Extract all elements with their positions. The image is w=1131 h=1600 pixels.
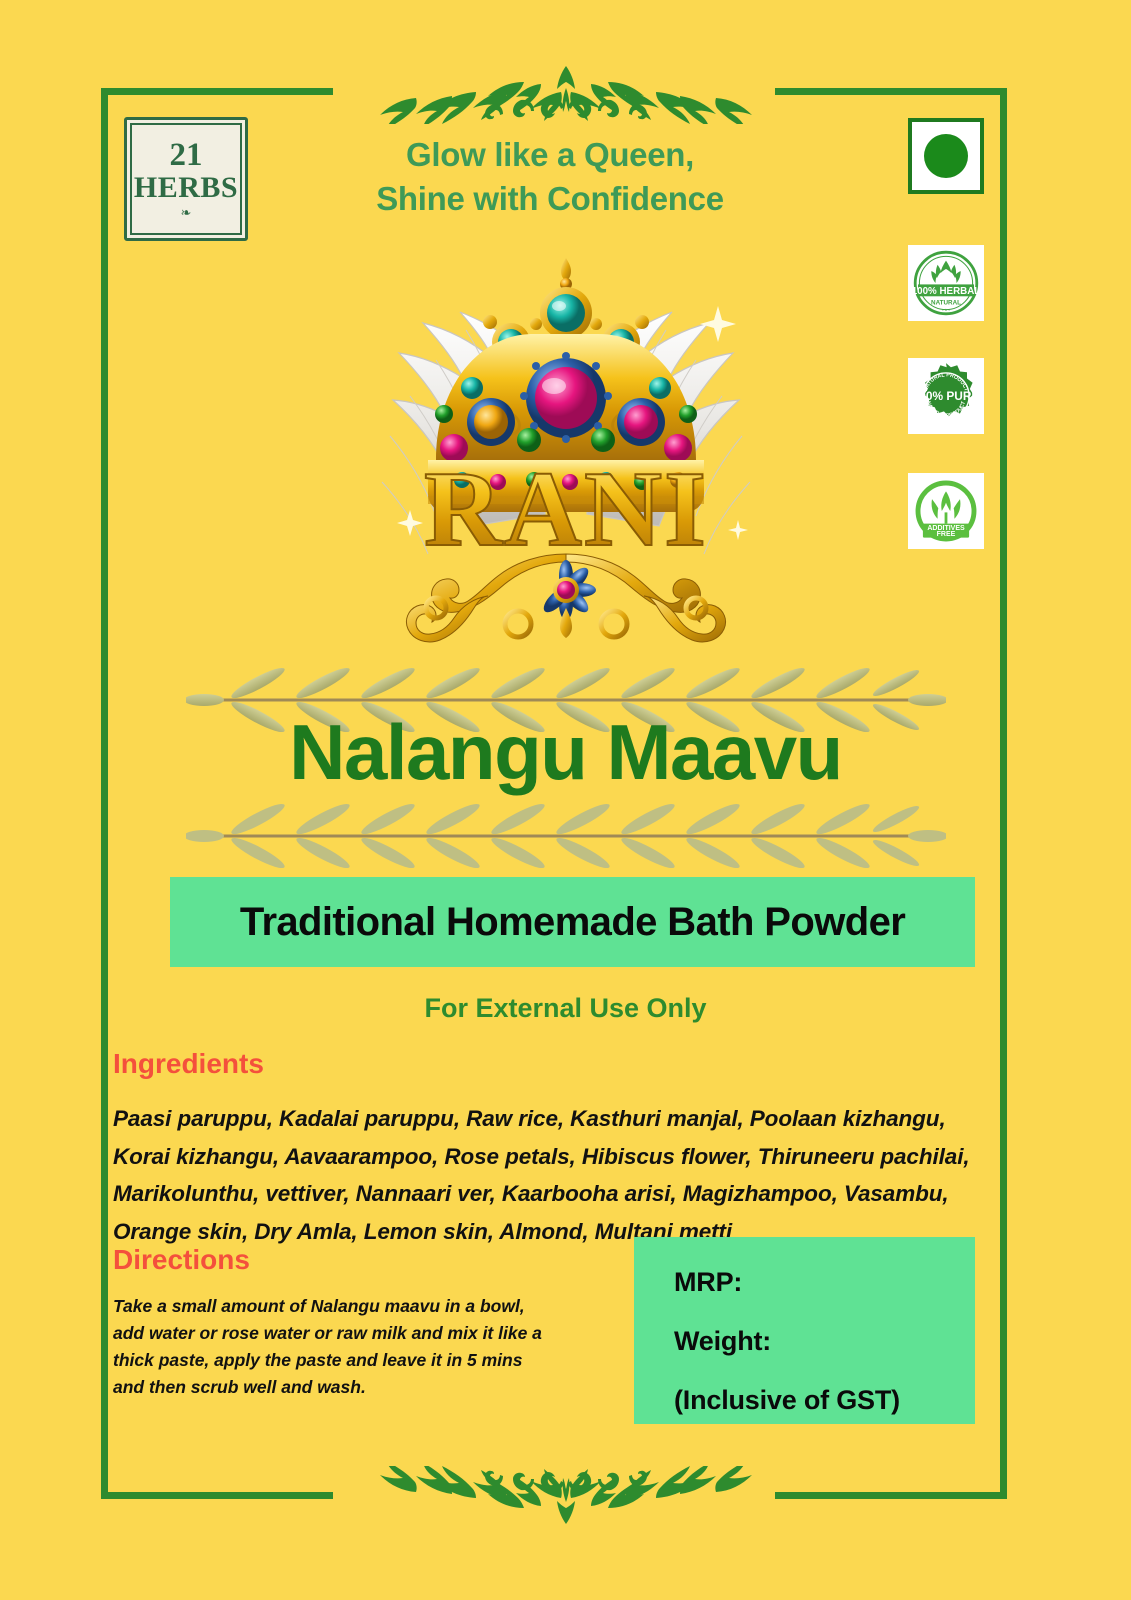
svg-text:100% HERBAL: 100% HERBAL (912, 286, 981, 297)
rani-crown-emblem-icon: RANI (286, 210, 846, 660)
ingredients-line: Marikolunthu, vettiver, Nannaari ver, Ka… (113, 1175, 1003, 1213)
tagline: Glow like a Queen, Shine with Confidence (300, 133, 800, 220)
frame-border-top-right (775, 88, 1007, 95)
pricing-box: MRP: Weight: (Inclusive of GST) (634, 1237, 975, 1424)
ingredients-line: Korai kizhangu, Aavaarampoo, Rose petals… (113, 1138, 1003, 1176)
directions-line: Take a small amount of Nalangu maavu in … (113, 1293, 613, 1320)
product-subtitle: Traditional Homemade Bath Powder (240, 900, 905, 945)
svg-text:• ★ •: • ★ • (942, 308, 950, 312)
ingredients-list: Paasi paruppu, Kadalai paruppu, Raw rice… (113, 1100, 1003, 1250)
directions-heading: Directions (113, 1244, 250, 1276)
directions-line: and then scrub well and wash. (113, 1374, 613, 1401)
tagline-line-2: Shine with Confidence (300, 177, 800, 221)
pure-natural-badge-icon: 100% PURE NATURAL PRODUCT NATURAL PRODUC… (908, 358, 984, 434)
gst-note: (Inclusive of GST) (674, 1385, 975, 1416)
additives-free-badge-icon: ADDITIVES FREE (908, 473, 984, 549)
directions-line: add water or rose water or raw milk and … (113, 1320, 613, 1347)
herbal-natural-badge-icon: 100% HERBAL NATURAL • ★ • (908, 245, 984, 321)
svg-text:100% PURE: 100% PURE (913, 389, 980, 403)
directions-line: thick paste, apply the paste and leave i… (113, 1347, 613, 1374)
weight-label: Weight: (674, 1326, 975, 1357)
frame-border-bottom-right (775, 1492, 1007, 1499)
product-label: 21 HERBS ❧ Glow like a Queen, Shine with… (0, 0, 1131, 1600)
svg-text:FREE: FREE (937, 531, 956, 538)
tagline-line-1: Glow like a Queen, (300, 133, 800, 177)
ingredients-heading: Ingredients (113, 1048, 264, 1080)
frame-border-bottom-left (101, 1492, 333, 1499)
product-title: Nalangu Maavu (0, 713, 1131, 791)
brand-logo-name: HERBS (134, 172, 238, 204)
frame-border-top-left (101, 88, 333, 95)
svg-text:NATURAL: NATURAL (931, 300, 961, 307)
vegetarian-green-dot-icon (924, 134, 968, 178)
directions-text: Take a small amount of Nalangu maavu in … (113, 1293, 613, 1402)
brand-logo-ornament-icon: ❧ (181, 206, 192, 219)
external-use-note: For External Use Only (0, 993, 1131, 1024)
brand-logo-21-herbs: 21 HERBS ❧ (124, 117, 248, 241)
frame-border-right (1000, 88, 1007, 1499)
flourish-ornament-top-icon (356, 62, 776, 124)
vegetarian-mark-icon (908, 118, 984, 194)
brand-logo-number: 21 (170, 139, 203, 172)
leaf-branch-divider-bottom-icon (186, 800, 946, 872)
mrp-label: MRP: (674, 1267, 975, 1298)
flourish-ornament-bottom-icon (356, 1466, 776, 1528)
ingredients-line: Paasi paruppu, Kadalai paruppu, Raw rice… (113, 1100, 1003, 1138)
frame-border-left (101, 88, 108, 1499)
svg-text:RANI: RANI (423, 450, 707, 569)
product-subtitle-banner: Traditional Homemade Bath Powder (170, 877, 975, 967)
